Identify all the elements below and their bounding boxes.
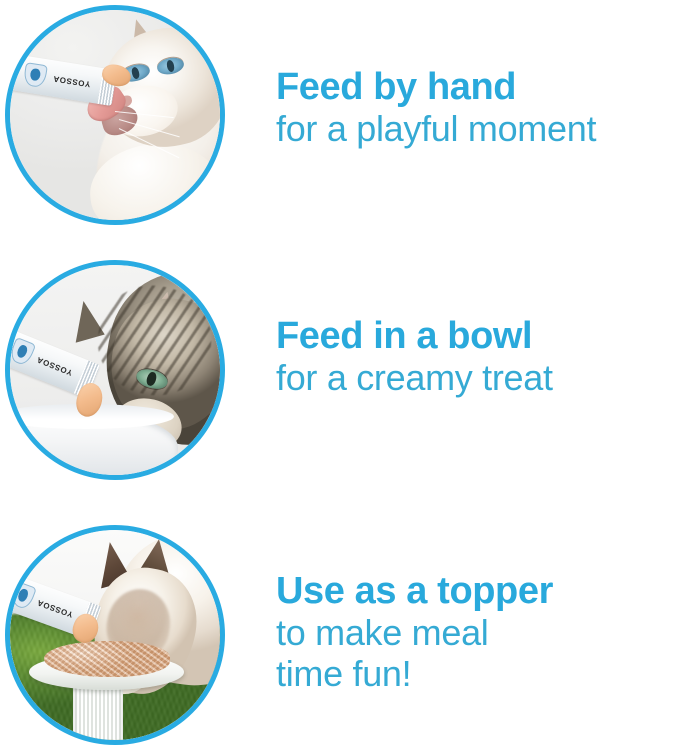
headline-feed-by-hand: Feed by hand bbox=[276, 66, 596, 108]
cat-right-pupil-shape bbox=[166, 60, 175, 73]
subline-feed-by-hand: for a playful moment bbox=[276, 108, 596, 149]
photo-backdrop: YOSSOA bbox=[10, 265, 220, 475]
treat-tube: YOSSOA bbox=[10, 50, 117, 106]
shredded-food-shape bbox=[44, 641, 170, 677]
headline-use-as-a-topper: Use as a topper bbox=[276, 570, 553, 612]
photo-backdrop: YOSSOA bbox=[10, 10, 220, 220]
cat-shield-badge-icon bbox=[10, 581, 36, 611]
headline-feed-in-a-bowl: Feed in a bowl bbox=[276, 315, 553, 357]
tube-brand-label: YOSSOA bbox=[52, 74, 91, 89]
cat-licking-tube-photo: YOSSOA bbox=[10, 10, 220, 220]
text-block-use-as-a-topper: Use as a topper to make meal time fun! bbox=[276, 570, 553, 694]
feature-row-use-as-a-topper: YOSSOA Use as a topper to make meal time… bbox=[0, 515, 679, 751]
photo-circle-feed-by-hand: YOSSOA bbox=[5, 5, 225, 225]
cat-left-pupil-shape bbox=[131, 66, 141, 79]
cat-pupil-shape bbox=[146, 371, 158, 386]
photo-backdrop: YOSSOA bbox=[10, 530, 220, 740]
pedestal-bowl-stem bbox=[73, 685, 123, 740]
photo-circle-use-as-a-topper: YOSSOA bbox=[5, 525, 225, 745]
tube-brand-label: YOSSOA bbox=[36, 354, 74, 377]
text-block-feed-in-a-bowl: Feed in a bowl for a creamy treat bbox=[276, 315, 553, 398]
photo-circle-feed-in-a-bowl: YOSSOA bbox=[5, 260, 225, 480]
infographic-canvas: YOSSOA Feed by hand for a playful moment bbox=[0, 0, 679, 751]
feature-row-feed-by-hand: YOSSOA Feed by hand for a playful moment bbox=[0, 0, 679, 250]
feature-row-feed-in-a-bowl: YOSSOA Feed in a bowl for a creamy treat bbox=[0, 255, 679, 510]
cat-at-bowl-photo: YOSSOA bbox=[10, 265, 220, 475]
subline-feed-in-a-bowl: for a creamy treat bbox=[276, 357, 553, 398]
cat-shield-badge-icon bbox=[22, 62, 48, 89]
cat-shield-badge-icon bbox=[10, 336, 36, 366]
text-block-feed-by-hand: Feed by hand for a playful moment bbox=[276, 66, 596, 149]
subline-use-as-a-topper: to make meal time fun! bbox=[276, 612, 553, 694]
cat-topper-bowl-photo: YOSSOA bbox=[10, 530, 220, 740]
tube-brand-label: YOSSOA bbox=[36, 597, 75, 618]
